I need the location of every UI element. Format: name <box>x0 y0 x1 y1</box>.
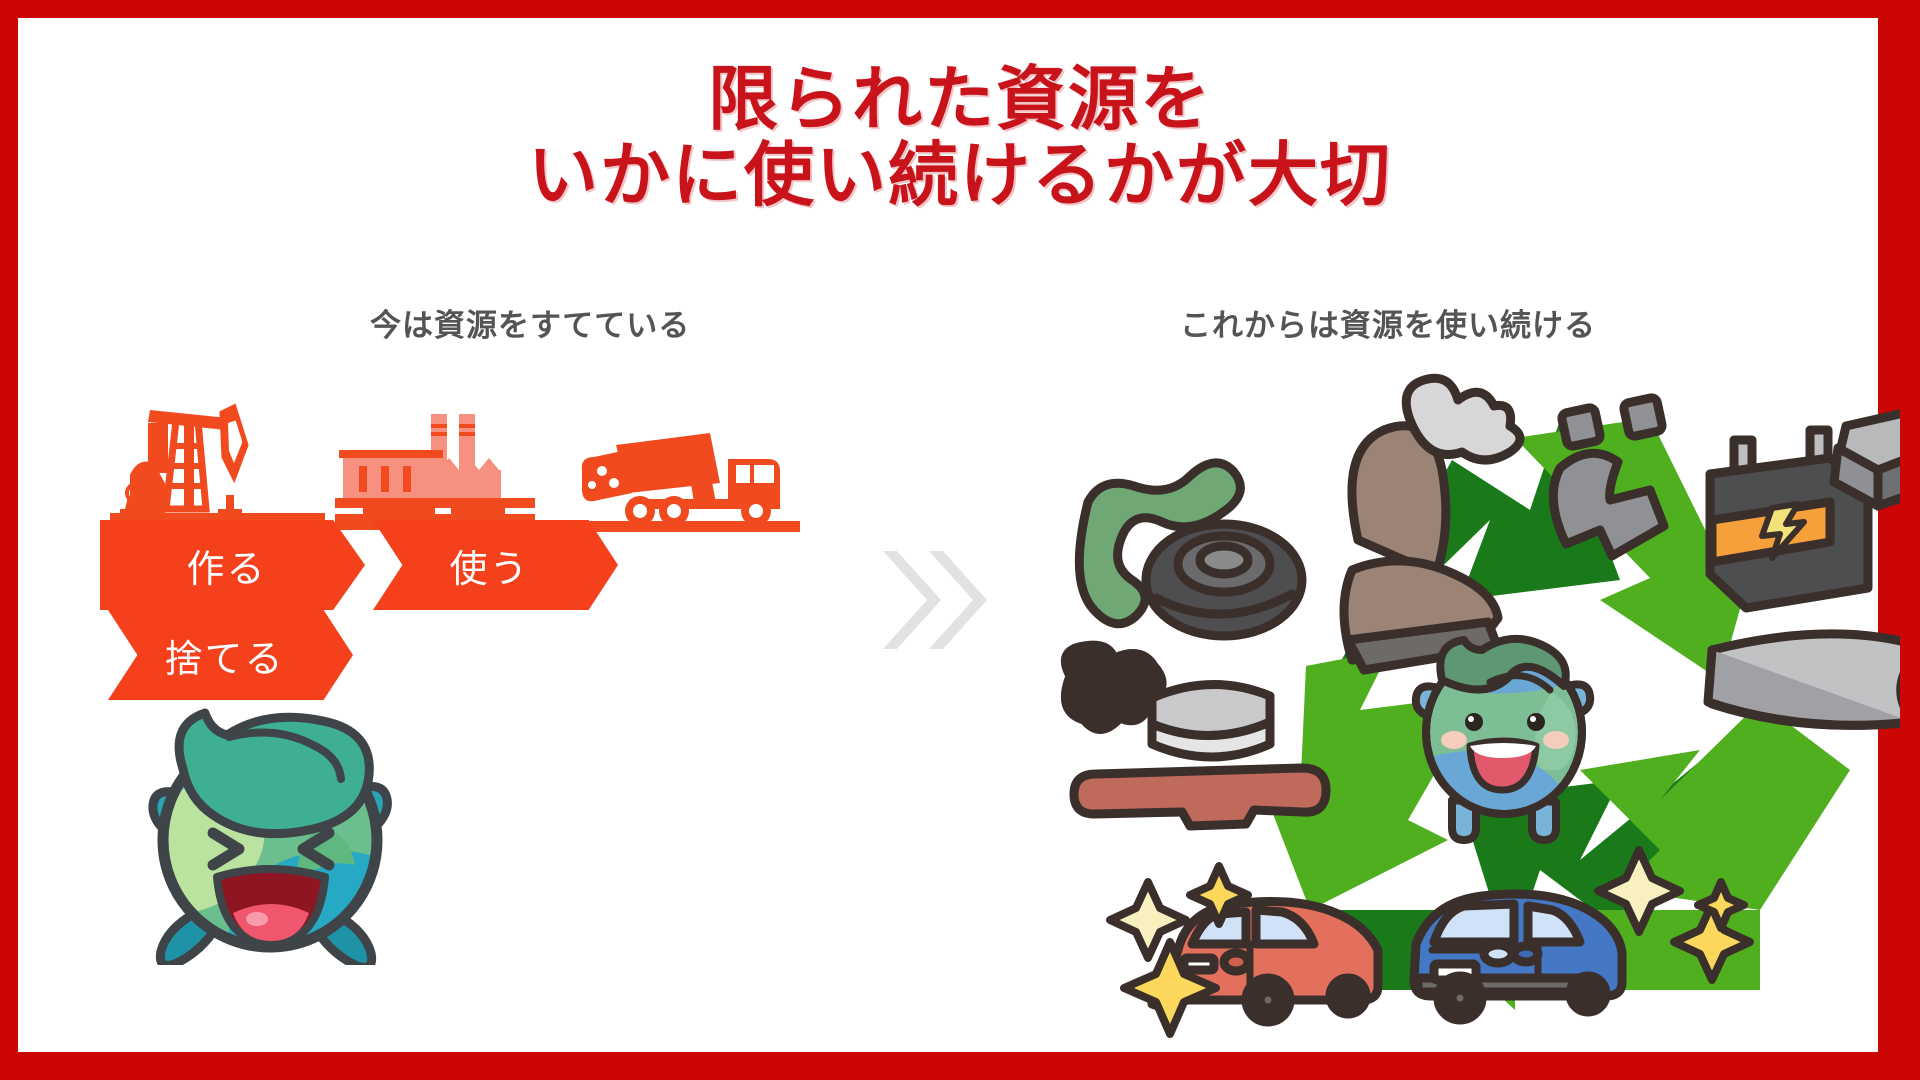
left-column-subhead: 今は資源をすてている <box>370 300 690 345</box>
double-chevron-right-icon <box>875 545 995 655</box>
title-line-1: 限られた資源を <box>0 62 1920 138</box>
flow-step-make-label: 作る <box>186 538 266 593</box>
linear-economy-panel: 作る 使う 捨てる <box>0 360 860 660</box>
page-title: 限られた資源を いかに使い続けるかが大切 <box>0 62 1920 213</box>
factory-icon <box>335 410 535 530</box>
right-column-subhead: これからは資源を使い続ける <box>1180 300 1596 345</box>
dump-truck-icon <box>570 427 800 532</box>
oil-rig-icon <box>110 385 325 530</box>
brake-pad-icon <box>1152 684 1270 757</box>
earth-mascot-happy <box>125 665 415 965</box>
flow-step-use[interactable]: 使う <box>373 520 618 610</box>
tire-icon <box>1146 524 1302 636</box>
metal-ingot-icon <box>1834 400 1900 506</box>
frame-border-bottom <box>0 1052 1920 1080</box>
recycle-diagram <box>1060 350 1900 1050</box>
exhaust-muffler-icon <box>1406 378 1520 460</box>
flow-step-make[interactable]: 作る <box>100 520 365 610</box>
car-blue-icon <box>1414 894 1622 1020</box>
circular-economy-panel <box>1060 350 1900 1050</box>
title-line-2: いかに使い続けるかが大切 <box>0 138 1920 214</box>
linear-flow-steps: 作る 使う 捨てる <box>100 520 860 610</box>
slide-canvas: 限られた資源を いかに使い続けるかが大切 今は資源をすてている これからは資源を… <box>0 0 1920 1080</box>
flow-step-use-label: 使う <box>449 538 529 593</box>
linear-economy-icons <box>100 385 820 530</box>
frame-border-top <box>0 0 1920 18</box>
steel-coil-icon <box>1708 634 1900 726</box>
